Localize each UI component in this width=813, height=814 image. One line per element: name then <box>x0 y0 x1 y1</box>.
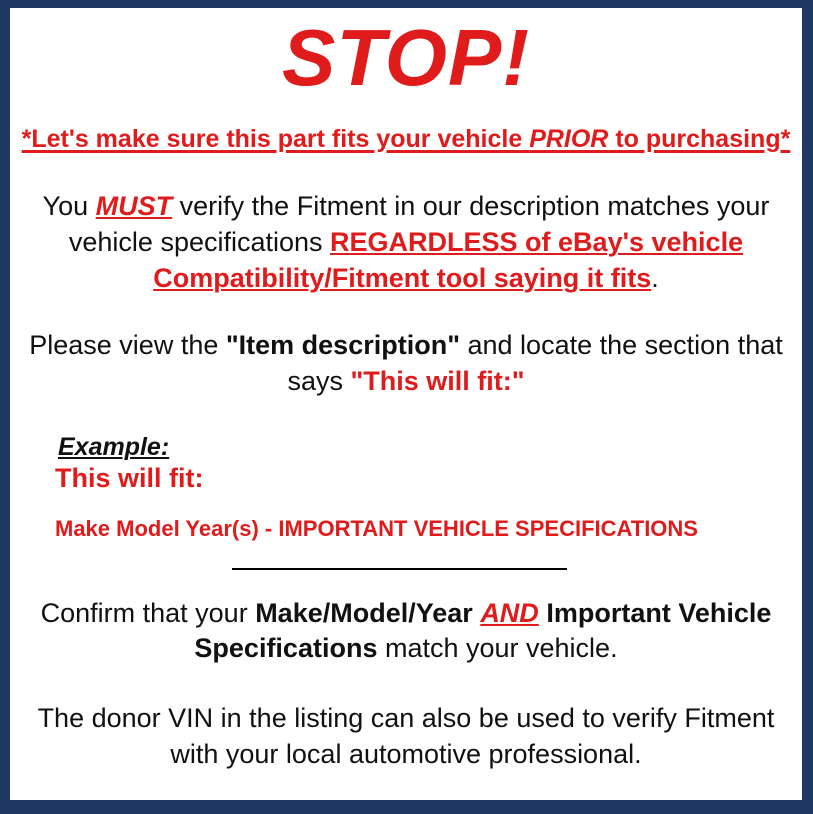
divider-wrapper <box>10 568 802 570</box>
this-will-fit-label: "This will fit:" <box>350 366 524 396</box>
paragraph-item-description: Please view the "Item description" and l… <box>10 328 802 399</box>
describe-seg-1: Please view the <box>29 330 226 360</box>
example-this-will-fit: This will fit: <box>55 463 802 494</box>
example-spec-line: Make Model Year(s) - IMPORTANT VEHICLE S… <box>55 516 802 541</box>
must-seg-3: . <box>651 263 659 293</box>
subtitle-suffix: to purchasing* <box>608 125 790 153</box>
example-block: Example: This will fit: Make Model Year(… <box>10 433 802 541</box>
subtitle-warning: *Let's make sure this part fits your veh… <box>10 124 802 155</box>
page-title: STOP! <box>10 8 802 98</box>
subtitle-emphasis-prior: PRIOR <box>529 125 608 153</box>
paragraph-donor-vin: The donor VIN in the listing can also be… <box>10 701 802 772</box>
make-model-year-emphasis: Make/Model/Year <box>255 598 473 628</box>
item-description-label: "Item description" <box>226 330 460 360</box>
section-divider <box>232 568 567 570</box>
paragraph-confirm: Confirm that your Make/Model/Year AND Im… <box>10 596 802 667</box>
fitment-notice-card: STOP! *Let's make sure this part fits yo… <box>0 0 813 814</box>
paragraph-must-verify: You MUST verify the Fitment in our descr… <box>10 189 802 296</box>
confirm-seg-1: Confirm that your <box>41 598 256 628</box>
and-emphasis: AND <box>480 598 539 628</box>
example-label: Example: <box>58 433 169 462</box>
thank-you-line: Thank you for confirming Fitment! <box>10 796 802 814</box>
confirm-seg-2: match your vehicle. <box>377 633 617 663</box>
must-seg-1: You <box>43 191 96 221</box>
must-emphasis: MUST <box>96 191 173 221</box>
notice-content-area: STOP! *Let's make sure this part fits yo… <box>10 8 802 800</box>
subtitle-prefix: *Let's make sure this part fits your veh… <box>22 125 530 153</box>
